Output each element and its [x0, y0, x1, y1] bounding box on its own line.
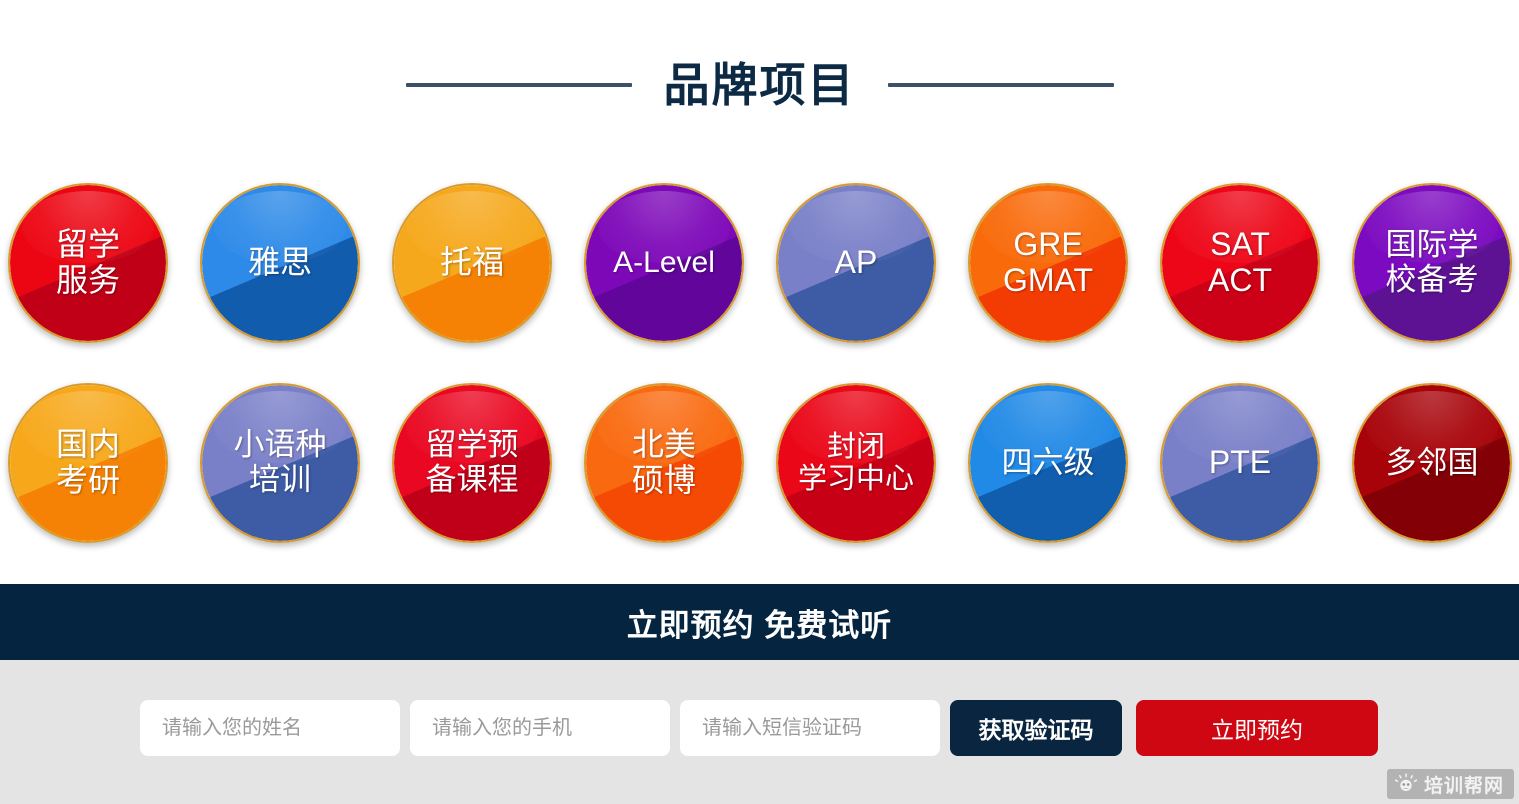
- program-bubble-domestic-postgrad-exam[interactable]: 国内 考研: [8, 383, 168, 543]
- program-bubble-a-level[interactable]: A-Level: [584, 183, 744, 343]
- title-rule-right: [888, 83, 1114, 87]
- program-row-1: 留学 服务雅思托福A-LevelAPGRE GMATSAT ACT国际学 校备考: [0, 183, 1519, 375]
- program-bubble-gre-gmat[interactable]: GRE GMAT: [968, 183, 1128, 343]
- program-bubble-label: 雅思: [242, 245, 318, 281]
- phone-input[interactable]: [410, 700, 670, 756]
- program-bubble-north-america-master-phd[interactable]: 北美 硕博: [584, 383, 744, 543]
- program-bubble-label: 留学 服务: [50, 227, 126, 299]
- program-bubble-label: PTE: [1203, 445, 1277, 481]
- sms-code-input[interactable]: [680, 700, 940, 756]
- program-bubble-label: 国内 考研: [50, 427, 126, 499]
- program-bubble-label: 托福: [434, 245, 510, 281]
- title-rule-left: [406, 83, 632, 87]
- program-bubble-cet-4-6[interactable]: 四六级: [968, 383, 1128, 543]
- program-bubble-label: 北美 硕博: [626, 427, 702, 499]
- program-bubble-sat-act[interactable]: SAT ACT: [1160, 183, 1320, 343]
- program-bubble-study-abroad-prep-course[interactable]: 留学预 备课程: [392, 383, 552, 543]
- program-bubble-international-school-prep[interactable]: 国际学 校备考: [1352, 183, 1512, 343]
- program-bubble-closed-study-center[interactable]: 封闭 学习中心: [776, 383, 936, 543]
- program-bubble-label: 国际学 校备考: [1380, 228, 1485, 297]
- appointment-banner: 立即预约 免费试听: [0, 584, 1519, 660]
- program-bubble-label: 多邻国: [1380, 446, 1485, 481]
- program-bubble-label: 留学预 备课程: [420, 428, 525, 497]
- appointment-form: 获取验证码 立即预约: [140, 700, 1378, 756]
- submit-appointment-button[interactable]: 立即预约: [1136, 700, 1378, 756]
- program-bubble-minor-language-training[interactable]: 小语种 培训: [200, 383, 360, 543]
- page-title: 品牌项目: [664, 62, 856, 108]
- program-bubble-duolingo[interactable]: 多邻国: [1352, 383, 1512, 543]
- watermark-text: 培训帮网: [1424, 771, 1504, 798]
- program-bubble-label: 小语种 培训: [228, 428, 333, 497]
- program-row-2: 国内 考研小语种 培训留学预 备课程北美 硕博封闭 学习中心四六级PTE多邻国: [0, 375, 1519, 567]
- program-bubble-pte[interactable]: PTE: [1160, 383, 1320, 543]
- program-bubble-toefl[interactable]: 托福: [392, 183, 552, 343]
- program-bubble-label: 封闭 学习中心: [792, 431, 920, 496]
- name-input[interactable]: [140, 700, 400, 756]
- program-bubble-study-abroad-service[interactable]: 留学 服务: [8, 183, 168, 343]
- program-bubble-label: SAT ACT: [1202, 227, 1278, 299]
- appointment-form-strip: 获取验证码 立即预约: [0, 660, 1519, 804]
- watermark: 培训帮网: [1387, 769, 1514, 799]
- program-bubble-ielts[interactable]: 雅思: [200, 183, 360, 343]
- program-bubble-label: GRE GMAT: [997, 227, 1099, 299]
- program-grid: 留学 服务雅思托福A-LevelAPGRE GMATSAT ACT国际学 校备考…: [0, 183, 1519, 567]
- get-verification-code-button[interactable]: 获取验证码: [950, 700, 1122, 756]
- program-bubble-label: AP: [829, 245, 884, 281]
- program-bubble-ap[interactable]: AP: [776, 183, 936, 343]
- appointment-banner-text: 立即预约 免费试听: [627, 600, 893, 645]
- page-header: 品牌项目: [0, 0, 1519, 170]
- program-bubble-label: A-Level: [607, 246, 721, 280]
- sun-face-icon: [1395, 773, 1417, 795]
- program-bubble-label: 四六级: [996, 446, 1101, 481]
